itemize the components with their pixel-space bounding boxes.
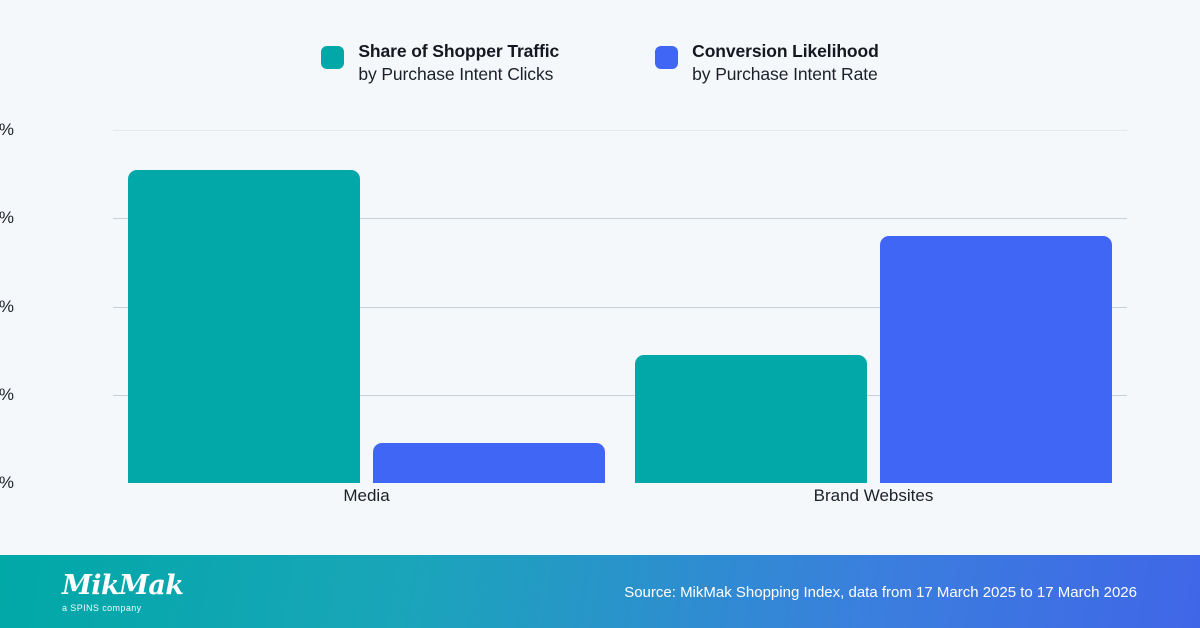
legend-swatch-blue <box>655 46 678 69</box>
source-caption: Source: MikMak Shopping Index, data from… <box>624 584 1137 601</box>
bar-series <box>113 130 1127 483</box>
plot-area: 0%20%40%60%80% <box>113 130 1127 483</box>
legend-subtitle: by Purchase Intent Rate <box>692 63 879 86</box>
chart-legend: Share of Shopper Traffic by Purchase Int… <box>0 40 1200 87</box>
logo-tagline: a SPINS company <box>62 603 183 613</box>
legend-item-conversion-likelihood: Conversion Likelihood by Purchase Intent… <box>655 40 879 87</box>
y-axis-tick-label: 60% <box>0 208 14 228</box>
y-axis-tick-label: 40% <box>0 297 14 317</box>
bar <box>880 236 1112 483</box>
legend-title: Conversion Likelihood <box>692 40 879 63</box>
x-axis-tick-label: Brand Websites <box>814 486 934 506</box>
chart-infographic: Share of Shopper Traffic by Purchase Int… <box>0 0 1200 628</box>
mikmak-logo: MikMak a SPINS company <box>62 572 183 613</box>
legend-title: Share of Shopper Traffic <box>358 40 559 63</box>
bar <box>635 355 867 483</box>
x-axis: MediaBrand Websites <box>113 486 1127 510</box>
legend-item-share-of-shopper-traffic: Share of Shopper Traffic by Purchase Int… <box>321 40 559 87</box>
logo-wordmark: MikMak <box>62 572 183 599</box>
x-axis-tick-label: Media <box>343 486 389 506</box>
bar <box>128 170 360 483</box>
legend-subtitle: by Purchase Intent Clicks <box>358 63 559 86</box>
y-axis-tick-label: 80% <box>0 120 14 140</box>
y-axis-tick-label: 0% <box>0 473 14 493</box>
bar <box>373 443 605 483</box>
y-axis-tick-label: 20% <box>0 385 14 405</box>
legend-swatch-teal <box>321 46 344 69</box>
